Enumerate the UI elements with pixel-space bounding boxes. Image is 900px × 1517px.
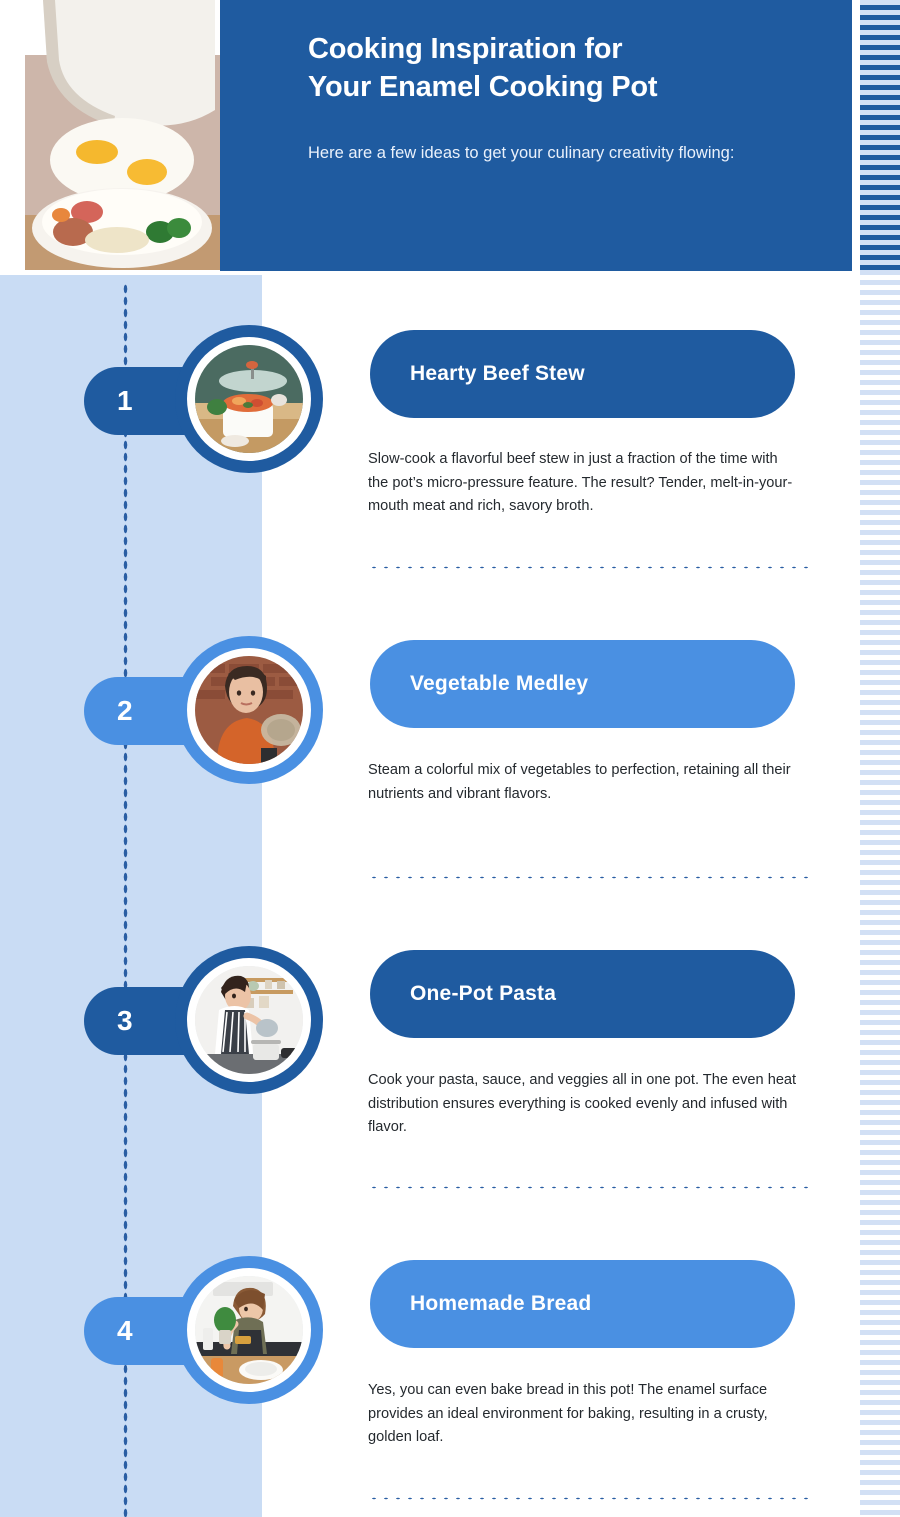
avatar-white-ring xyxy=(187,1268,311,1392)
hero-image xyxy=(25,0,220,270)
avatar-photo xyxy=(195,1276,303,1384)
page-title-line-2: Your Enamel Cooking Pot xyxy=(308,68,808,106)
header-text-block: Cooking Inspiration for Your Enamel Cook… xyxy=(308,30,808,166)
item-title: Vegetable Medley xyxy=(410,672,588,696)
avatar-photo xyxy=(195,345,303,453)
item-title: Homemade Bread xyxy=(410,1292,591,1316)
section-dotted-divider xyxy=(368,565,808,570)
section-dotted-divider xyxy=(368,1185,808,1190)
item-description: Cook your pasta, sauce, and veggies all … xyxy=(368,1069,800,1140)
item-title: One-Pot Pasta xyxy=(410,982,556,1006)
section-dotted-divider xyxy=(368,1496,808,1501)
avatar xyxy=(175,946,323,1094)
right-stripe-pattern-header-segment xyxy=(860,0,900,271)
avatar-white-ring xyxy=(187,337,311,461)
page-title-line-1: Cooking Inspiration for xyxy=(308,30,808,68)
item-title-pill[interactable]: Vegetable Medley xyxy=(370,640,795,728)
avatar xyxy=(175,1256,323,1404)
infographic-page: Cooking Inspiration for Your Enamel Cook… xyxy=(0,0,900,1517)
page-title: Cooking Inspiration for Your Enamel Cook… xyxy=(308,30,808,107)
step-number: 2 xyxy=(117,697,133,725)
avatar-photo xyxy=(195,966,303,1074)
item-title-pill[interactable]: One-Pot Pasta xyxy=(370,950,795,1038)
item-description: Yes, you can even bake bread in this pot… xyxy=(368,1379,800,1450)
item-description: Slow-cook a flavorful beef stew in just … xyxy=(368,448,800,519)
item-title-pill[interactable]: Homemade Bread xyxy=(370,1260,795,1348)
page-subtitle: Here are a few ideas to get your culinar… xyxy=(308,140,808,167)
avatar-photo xyxy=(195,656,303,764)
step-number: 1 xyxy=(117,387,133,415)
step-number: 4 xyxy=(117,1317,133,1345)
item-description: Steam a colorful mix of vegetables to pe… xyxy=(368,759,800,806)
avatar xyxy=(175,636,323,784)
step-number: 3 xyxy=(117,1007,133,1035)
section-dotted-divider xyxy=(368,875,808,880)
item-title-pill[interactable]: Hearty Beef Stew xyxy=(370,330,795,418)
avatar-white-ring xyxy=(187,648,311,772)
avatar xyxy=(175,325,323,473)
avatar-white-ring xyxy=(187,958,311,1082)
item-title: Hearty Beef Stew xyxy=(410,362,585,386)
